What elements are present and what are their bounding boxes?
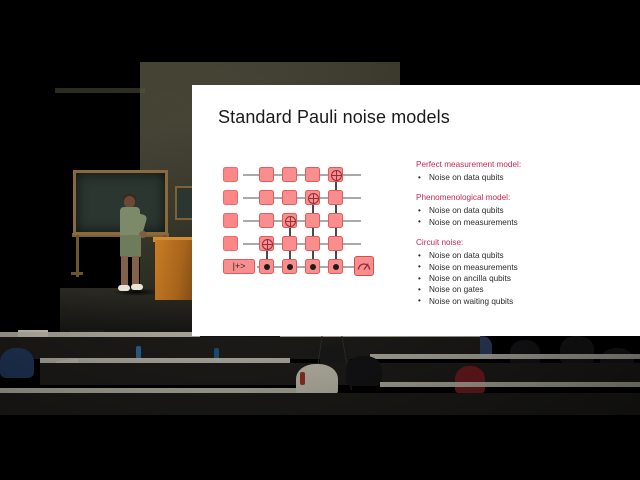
cnot-connector xyxy=(312,197,314,268)
xor-icon xyxy=(329,168,344,183)
noise-model-group: Phenomenological model: Noise on data qu… xyxy=(416,192,621,228)
video-frame: Standard Pauli noise models xyxy=(0,0,640,480)
xor-icon xyxy=(260,237,275,252)
list-item: Noise on measurements xyxy=(416,262,621,273)
xor-icon xyxy=(283,214,298,229)
audience-desk xyxy=(380,382,640,387)
noise-box xyxy=(305,213,320,228)
control-dot xyxy=(310,264,316,270)
quantum-circuit-diagram: |+> xyxy=(223,167,363,277)
list-item: Noise on waiting qubits xyxy=(416,296,621,307)
list-item: Noise on gates xyxy=(416,284,621,295)
xor-icon xyxy=(306,191,321,206)
podium xyxy=(155,240,195,300)
audience-member xyxy=(0,348,34,378)
noise-box xyxy=(259,190,274,205)
prep-box xyxy=(223,167,238,182)
group-heading: Circuit noise: xyxy=(416,237,621,248)
speaker-leg xyxy=(121,256,128,286)
dark-foreground xyxy=(0,430,640,480)
noise-model-list: Perfect measurement model: Noise on data… xyxy=(416,159,621,307)
audience-member xyxy=(560,336,594,364)
speaker-leg xyxy=(132,256,139,286)
noise-box xyxy=(282,190,297,205)
control-dot xyxy=(287,264,293,270)
audience-desk xyxy=(370,354,640,359)
slide-title: Standard Pauli noise models xyxy=(218,107,450,128)
noise-box xyxy=(305,167,320,182)
group-heading: Phenomenological model: xyxy=(416,192,621,203)
meter-icon xyxy=(356,258,372,274)
control-dot xyxy=(264,264,270,270)
list-item: Noise on data qubits xyxy=(416,172,621,183)
prep-box xyxy=(223,190,238,205)
measurement-gate xyxy=(354,256,374,276)
noise-box xyxy=(282,236,297,251)
audience-member xyxy=(346,356,382,386)
hall-wall-strip xyxy=(55,88,145,93)
audience-member xyxy=(455,366,485,394)
noise-box xyxy=(259,213,274,228)
chalkboard-foot xyxy=(71,272,83,275)
water-bottle xyxy=(300,372,305,385)
projected-slide: Standard Pauli noise models xyxy=(192,85,640,336)
chalkboard-leg xyxy=(76,235,79,277)
audience-area xyxy=(0,330,640,480)
ancilla-state-label: |+> xyxy=(223,259,255,274)
prep-box xyxy=(223,236,238,251)
noise-model-group: Perfect measurement model: Noise on data… xyxy=(416,159,621,183)
noise-box xyxy=(259,167,274,182)
prep-box xyxy=(223,213,238,228)
list-item: Noise on data qubits xyxy=(416,205,621,216)
group-heading: Perfect measurement model: xyxy=(416,159,621,170)
audience-desk-front xyxy=(0,393,640,415)
cnot-target-box xyxy=(259,236,274,251)
noise-box xyxy=(282,167,297,182)
speaker-shoe xyxy=(131,284,143,290)
noise-box xyxy=(328,190,343,205)
cnot-target-box xyxy=(305,190,320,205)
noise-box xyxy=(305,236,320,251)
list-item: Noise on ancilla qubits xyxy=(416,273,621,284)
list-item: Noise on measurements xyxy=(416,217,621,228)
list-item: Noise on data qubits xyxy=(416,250,621,261)
speaker-shorts xyxy=(120,235,141,257)
control-dot xyxy=(333,264,339,270)
noise-box xyxy=(328,213,343,228)
cnot-target-box xyxy=(282,213,297,228)
noise-box xyxy=(328,236,343,251)
cnot-target-box xyxy=(328,167,343,182)
noise-model-group: Circuit noise: Noise on data qubits Nois… xyxy=(416,237,621,307)
speaker-shoe xyxy=(118,285,130,291)
